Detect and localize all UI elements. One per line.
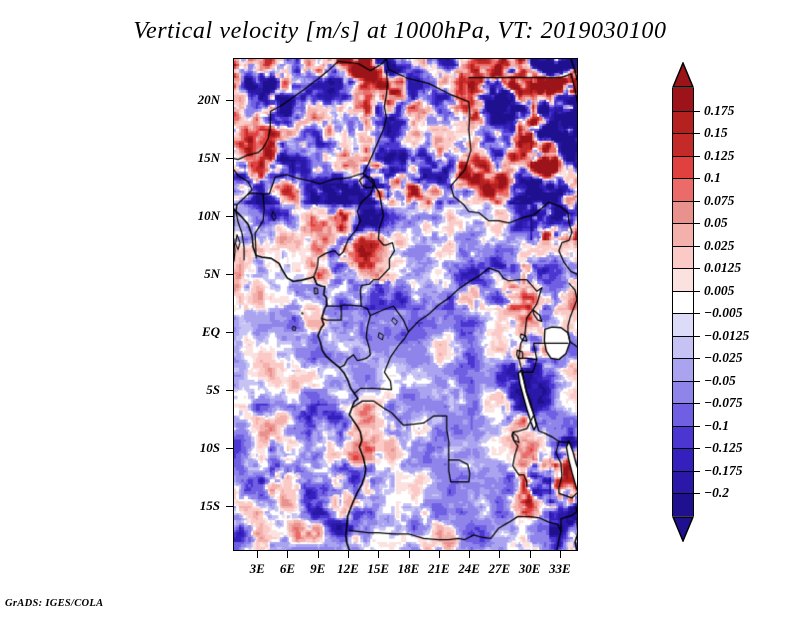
colorbar-tick: [694, 471, 700, 472]
colorbar-label: −0.125: [704, 440, 743, 456]
lon-tick: [378, 551, 379, 558]
colorbar-tick: [694, 448, 700, 449]
lat-tick: [226, 390, 233, 391]
lon-tick: [409, 551, 410, 558]
colorbar-label: 0.125: [704, 148, 734, 164]
lon-tick: [287, 551, 288, 558]
colorbar-tick: [694, 111, 700, 112]
colorbar-label: 0.15: [704, 125, 728, 141]
lat-tick: [226, 216, 233, 217]
colorbar-tick: [694, 336, 700, 337]
colorbar-tick: [694, 178, 700, 179]
colorbar-label: 0.075: [704, 193, 734, 209]
colorbar-label: 0.005: [704, 283, 734, 299]
colorbar-band: [673, 448, 693, 471]
lat-tick: [226, 100, 233, 101]
lon-tick: [318, 551, 319, 558]
lat-label: 15N: [173, 150, 220, 166]
lon-tick: [257, 551, 258, 558]
colorbar-band: [673, 291, 693, 314]
lat-tick: [226, 448, 233, 449]
colorbar-tick: [694, 426, 700, 427]
lon-label: 33E: [538, 561, 582, 577]
colorbar-band: [673, 493, 693, 516]
colorbar-band: [673, 381, 693, 404]
colorbar-band: [673, 313, 693, 336]
colorbar-label: 0.175: [704, 103, 734, 119]
lon-tick: [439, 551, 440, 558]
colorbar-band: [673, 403, 693, 426]
colorbar-tick: [694, 381, 700, 382]
coastline-and-border-overlay: [234, 59, 577, 550]
colorbar-label: −0.075: [704, 395, 743, 411]
colorbar-label: −0.2: [704, 485, 729, 501]
colorbar-band: [673, 223, 693, 246]
page-title: Vertical velocity [m/s] at 1000hPa, VT: …: [0, 18, 800, 45]
colorbar-band: [673, 133, 693, 156]
colorbar-tick: [694, 358, 700, 359]
colorbar-band: [673, 336, 693, 359]
colorbar-tick: [694, 246, 700, 247]
colorbar-label: −0.05: [704, 373, 736, 389]
colorbar-band: [673, 358, 693, 381]
colorbar-band: [673, 268, 693, 291]
colorbar-label: 0.0125: [704, 260, 741, 276]
colorbar-band: [673, 111, 693, 134]
lat-label: 5N: [173, 266, 220, 282]
lat-tick: [226, 332, 233, 333]
lat-label: 5S: [173, 382, 220, 398]
lon-tick: [560, 551, 561, 558]
colorbar-label: 0.05: [704, 215, 728, 231]
colorbar-tick: [694, 403, 700, 404]
colorbar-tick: [694, 268, 700, 269]
colorbar-tick: [694, 156, 700, 157]
colorbar-band: [673, 156, 693, 179]
colorbar-tick: [694, 201, 700, 202]
lat-label: 15S: [173, 498, 220, 514]
lat-label: 10N: [173, 208, 220, 224]
colorbar-max-arrow: [672, 62, 694, 88]
lat-tick: [226, 506, 233, 507]
colorbar-label: −0.005: [704, 305, 743, 321]
colorbar: 0.1750.150.1250.10.0750.050.0250.01250.0…: [672, 62, 694, 542]
colorbar-band: [673, 178, 693, 201]
lon-tick: [469, 551, 470, 558]
colorbar-label: −0.1: [704, 418, 729, 434]
colorbar-tick: [694, 223, 700, 224]
colorbar-band: [673, 88, 693, 111]
colorbar-band-stack: [672, 88, 694, 516]
colorbar-min-arrow: [672, 516, 694, 542]
lat-label: 20N: [173, 92, 220, 108]
attribution-footer: GrADS: IGES/COLA: [5, 598, 103, 609]
colorbar-label: 0.1: [704, 170, 721, 186]
colorbar-label: −0.0125: [704, 328, 749, 344]
colorbar-band: [673, 426, 693, 449]
lat-tick: [226, 158, 233, 159]
colorbar-band: [673, 246, 693, 269]
colorbar-label: 0.025: [704, 238, 734, 254]
colorbar-label: −0.175: [704, 463, 743, 479]
colorbar-band: [673, 471, 693, 494]
colorbar-tick: [694, 313, 700, 314]
colorbar-tick: [694, 291, 700, 292]
lat-label: EQ: [173, 324, 220, 340]
lon-tick: [499, 551, 500, 558]
colorbar-label: −0.025: [704, 350, 743, 366]
map-plot-area: [233, 58, 578, 551]
colorbar-tick: [694, 133, 700, 134]
grads-plot-page: Vertical velocity [m/s] at 1000hPa, VT: …: [0, 0, 800, 618]
colorbar-tick: [694, 493, 700, 494]
lon-tick: [348, 551, 349, 558]
lon-tick: [530, 551, 531, 558]
colorbar-band: [673, 201, 693, 224]
lat-label: 10S: [173, 440, 220, 456]
lat-tick: [226, 274, 233, 275]
